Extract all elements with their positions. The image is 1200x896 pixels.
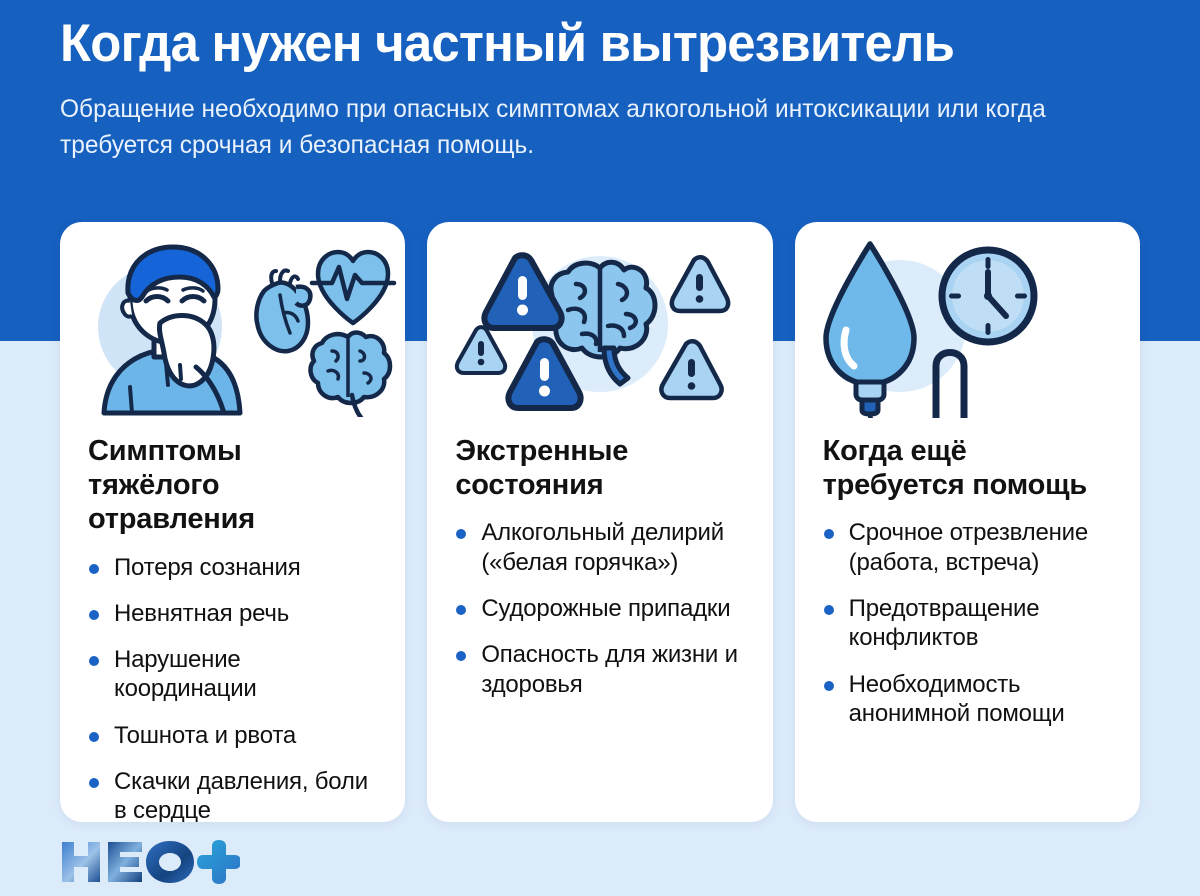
list-item: Необходимость анонимной помощи <box>823 670 1114 729</box>
list-item-text: Судорожные припадки <box>481 595 730 622</box>
page-header: Когда нужен частный вытрезвитель Обращен… <box>0 0 1200 163</box>
bullet-dot-icon <box>89 778 99 788</box>
cards-row: Симптомы тяжёлого отравления Потеря созн… <box>60 222 1140 822</box>
card-2-illustration <box>427 222 772 422</box>
list-item-text: Опасность для жизни и здоровья <box>481 641 737 697</box>
iv-drip-clock-icon <box>812 226 1122 418</box>
brain-warning-triangles-icon <box>442 226 758 418</box>
list-item: Потеря сознания <box>88 553 379 582</box>
card-emergency-conditions: Экстренные состояния Алкогольный делирий… <box>427 222 772 822</box>
bullet-dot-icon <box>456 605 466 615</box>
list-item: Опасность для жизни и здоровья <box>455 640 746 699</box>
bullet-dot-icon <box>456 651 466 661</box>
list-item-text: Алкогольный делирий («белая горячка») <box>481 519 724 575</box>
list-item-text: Срочное отрезвление (работа, встреча) <box>849 519 1088 575</box>
card-3-illustration <box>795 222 1140 422</box>
bullet-dot-icon <box>89 564 99 574</box>
list-item: Срочное отрезвление (работа, встреча) <box>823 518 1114 577</box>
bullet-dot-icon <box>456 529 466 539</box>
list-item: Нарушение координации <box>88 645 379 704</box>
card-2-heading: Экстренные состояния <box>455 434 746 502</box>
list-item: Предотвращение конфликтов <box>823 594 1114 653</box>
page-subtitle: Обращение необходимо при опасных симптом… <box>60 92 1079 163</box>
card-1-illustration <box>60 222 405 422</box>
sick-man-heart-brain-icon <box>68 227 398 417</box>
card-1-heading: Симптомы тяжёлого отравления <box>88 434 379 537</box>
card-3-body: Когда ещё требуется помощь Срочное отрез… <box>795 422 1140 822</box>
list-item-text: Потеря сознания <box>114 554 301 581</box>
bullet-dot-icon <box>89 656 99 666</box>
bullet-dot-icon <box>824 605 834 615</box>
list-item: Невнятная речь <box>88 599 379 628</box>
card-1-body: Симптомы тяжёлого отравления Потеря созн… <box>60 422 405 822</box>
card-3-bullet-list: Срочное отрезвление (работа, встреча) Пр… <box>823 518 1114 728</box>
brand-logo <box>60 838 240 886</box>
bullet-dot-icon <box>89 610 99 620</box>
list-item: Скачки давления, боли в сердце <box>88 767 379 822</box>
card-2-body: Экстренные состояния Алкогольный делирий… <box>427 422 772 822</box>
page-title: Когда нужен частный вытрезвитель <box>60 14 1101 74</box>
list-item-text: Скачки давления, боли в сердце <box>114 768 368 822</box>
list-item-text: Предотвращение конфликтов <box>849 595 1040 651</box>
bullet-dot-icon <box>824 529 834 539</box>
card-2-bullet-list: Алкогольный делирий («белая горячка») Су… <box>455 518 746 698</box>
list-item-text: Тошнота и рвота <box>114 722 296 749</box>
list-item-text: Необходимость анонимной помощи <box>849 671 1065 727</box>
bullet-dot-icon <box>824 681 834 691</box>
list-item: Алкогольный делирий («белая горячка») <box>455 518 746 577</box>
card-3-heading: Когда ещё требуется помощь <box>823 434 1114 502</box>
list-item: Судорожные припадки <box>455 594 746 623</box>
card-severe-poisoning-symptoms: Симптомы тяжёлого отравления Потеря созн… <box>60 222 405 822</box>
card-when-else-help-needed: Когда ещё требуется помощь Срочное отрез… <box>795 222 1140 822</box>
list-item-text: Нарушение координации <box>114 646 257 702</box>
neo-plus-logo-icon <box>60 838 240 886</box>
list-item-text: Невнятная речь <box>114 600 289 627</box>
list-item: Тошнота и рвота <box>88 721 379 750</box>
card-1-bullet-list: Потеря сознания Невнятная речь Нарушение… <box>88 553 379 822</box>
bullet-dot-icon <box>89 732 99 742</box>
